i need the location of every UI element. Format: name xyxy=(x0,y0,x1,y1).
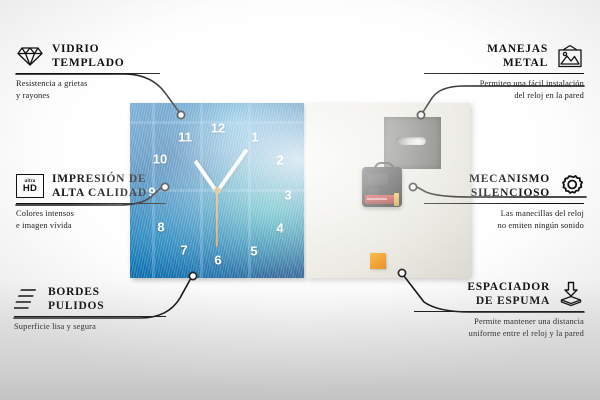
clock-numeral-7: 7 xyxy=(180,244,187,257)
polished-edges-icon xyxy=(14,288,40,310)
ultra-hd-icon: ultra HD xyxy=(16,174,44,198)
feature-head: MECANISMO SILENCIOSO xyxy=(424,172,584,200)
infographic-canvas: 12 1 2 3 4 5 6 7 8 9 10 11 xyxy=(0,0,600,400)
clock-numeral-4: 4 xyxy=(276,222,283,235)
battery xyxy=(365,195,399,204)
clock-numeral-1: 1 xyxy=(251,131,258,144)
feature-divider xyxy=(14,316,166,317)
feature-title: BORDES PULIDOS xyxy=(48,285,104,313)
feature-head: VIDRIO TEMPLADO xyxy=(16,42,166,70)
clock-numeral-2: 2 xyxy=(276,154,283,167)
feature-callout-manejas-metal[interactable]: MANEJAS METAL Permiten una fácil instala… xyxy=(424,42,584,101)
mechanism-detail xyxy=(368,174,388,185)
foam-spacer xyxy=(370,253,386,269)
product-photo: 12 1 2 3 4 5 6 7 8 9 10 11 xyxy=(130,103,470,278)
feature-divider xyxy=(424,203,584,204)
gear-icon xyxy=(558,174,584,198)
feature-divider xyxy=(16,203,166,204)
feature-head: BORDES PULIDOS xyxy=(14,285,170,313)
feature-subtitle: Permite mantener una distancia uniforme … xyxy=(414,316,584,338)
clock-numeral-5: 5 xyxy=(250,245,257,258)
clock-numeral-6: 6 xyxy=(214,254,221,267)
battery-terminal xyxy=(394,193,399,206)
mechanism-detail xyxy=(369,188,378,195)
feature-callout-vidrio-templado[interactable]: VIDRIO TEMPLADO Resistencia a grietas y … xyxy=(16,42,166,101)
clock-numeral-12: 12 xyxy=(211,122,225,135)
battery-label xyxy=(367,198,387,200)
feature-divider xyxy=(424,73,584,74)
feature-subtitle: Permiten una fácil instalación del reloj… xyxy=(424,78,584,100)
feature-head: ESPACIADOR DE ESPUMA xyxy=(414,280,584,308)
diamond-icon xyxy=(16,45,44,67)
feature-head: ultra HD IMPRESIÓN DE ALTA CALIDAD xyxy=(16,172,170,200)
foam-spacer-icon xyxy=(558,281,584,307)
feature-subtitle: Resistencia a grietas y rayones xyxy=(16,78,166,100)
mechanism-hook xyxy=(374,162,394,173)
clock-second-hand xyxy=(216,191,218,247)
hanger-slot xyxy=(396,137,426,145)
feature-subtitle: Superficie lisa y segura xyxy=(14,321,170,332)
picture-frame-icon xyxy=(556,44,584,68)
feature-divider xyxy=(16,73,160,74)
feature-callout-espaciador-espuma[interactable]: ESPACIADOR DE ESPUMA Permite mantener un… xyxy=(414,280,584,339)
clock-numeral-11: 11 xyxy=(178,131,192,144)
feature-title: IMPRESIÓN DE ALTA CALIDAD xyxy=(52,172,147,200)
feature-callout-mecanismo-silencioso[interactable]: MECANISMO SILENCIOSO Las manecillas del … xyxy=(424,172,584,231)
feature-subtitle: Las manecillas del reloj no emiten ningú… xyxy=(424,208,584,230)
feature-title: VIDRIO TEMPLADO xyxy=(52,42,124,70)
clock-numeral-3: 3 xyxy=(284,189,291,202)
clock-numeral-10: 10 xyxy=(153,153,167,166)
clock-mechanism xyxy=(362,167,402,207)
feature-subtitle: Colores intensos e imagen vívida xyxy=(16,208,170,230)
feature-title: ESPACIADOR DE ESPUMA xyxy=(467,280,550,308)
feature-head: MANEJAS METAL xyxy=(424,42,584,70)
feature-title: MANEJAS METAL xyxy=(487,42,548,70)
feature-title: MECANISMO SILENCIOSO xyxy=(469,172,550,200)
clock-hand-cap xyxy=(214,187,221,194)
feature-divider xyxy=(414,311,584,312)
hanger-plate xyxy=(384,117,441,169)
feature-callout-bordes-pulidos[interactable]: BORDES PULIDOS Superficie lisa y segura xyxy=(14,285,170,333)
feature-callout-impresion-alta-calidad[interactable]: ultra HD IMPRESIÓN DE ALTA CALIDAD Color… xyxy=(16,172,170,231)
